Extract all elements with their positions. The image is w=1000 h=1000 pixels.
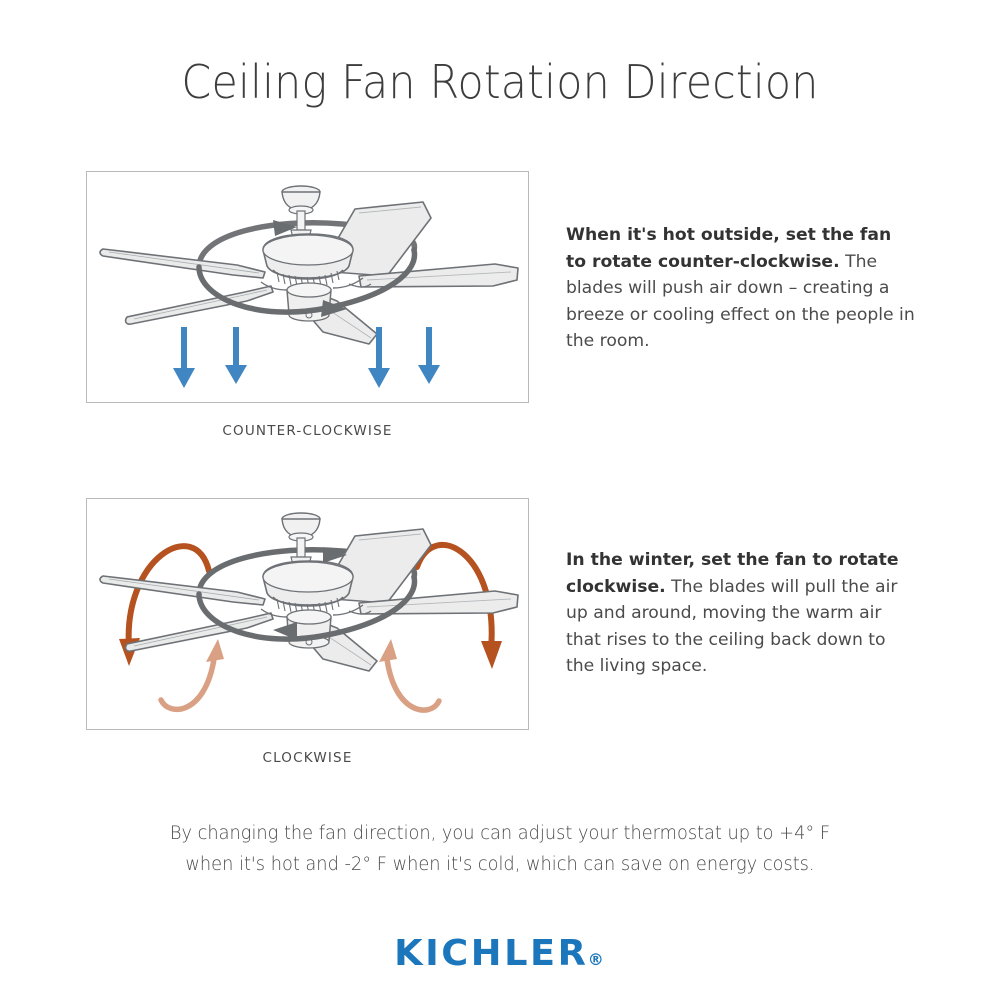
caption-clockwise: CLOCKWISE [86, 750, 529, 766]
fan-blade-left-upper [100, 576, 265, 605]
diagram-clockwise [86, 498, 529, 730]
description-clockwise: In the winter, set the fan to rotate clo… [566, 547, 916, 680]
ceiling-fan-illustration-cw [87, 499, 528, 729]
footnote-line-1: By changing the fan direction, you can a… [170, 823, 830, 844]
description-counter-clockwise: When it's hot outside, set the fan to ro… [566, 222, 916, 355]
ceiling-fan-illustration-ccw [87, 172, 528, 402]
page-title: Ceiling Fan Rotation Direction [35, 55, 965, 109]
airflow-arrow [418, 327, 440, 384]
fan-mount [282, 513, 320, 565]
brand-logo-text: KICHLER [394, 933, 588, 974]
footnote: By changing the fan direction, you can a… [126, 818, 875, 880]
fan-blade-left-upper [100, 249, 265, 278]
airflow-arc-inner-right [379, 639, 439, 710]
brand-logo: KICHLER® [0, 933, 1000, 974]
diagram-counter-clockwise [86, 171, 529, 403]
airflow-arrow [173, 327, 195, 388]
fan-blade-left-lower [126, 286, 273, 324]
caption-counter-clockwise: COUNTER-CLOCKWISE [86, 423, 529, 439]
fan-blade-left-lower [126, 613, 273, 651]
brand-logo-mark: ® [588, 950, 604, 969]
airflow-arrows-down [173, 327, 440, 388]
airflow-arc-inner-left [161, 639, 224, 709]
infographic-page: Ceiling Fan Rotation Direction [0, 0, 1000, 1000]
airflow-arrow [225, 327, 247, 384]
footnote-line-2: when it's hot and -2° F when it's cold, … [185, 854, 814, 875]
